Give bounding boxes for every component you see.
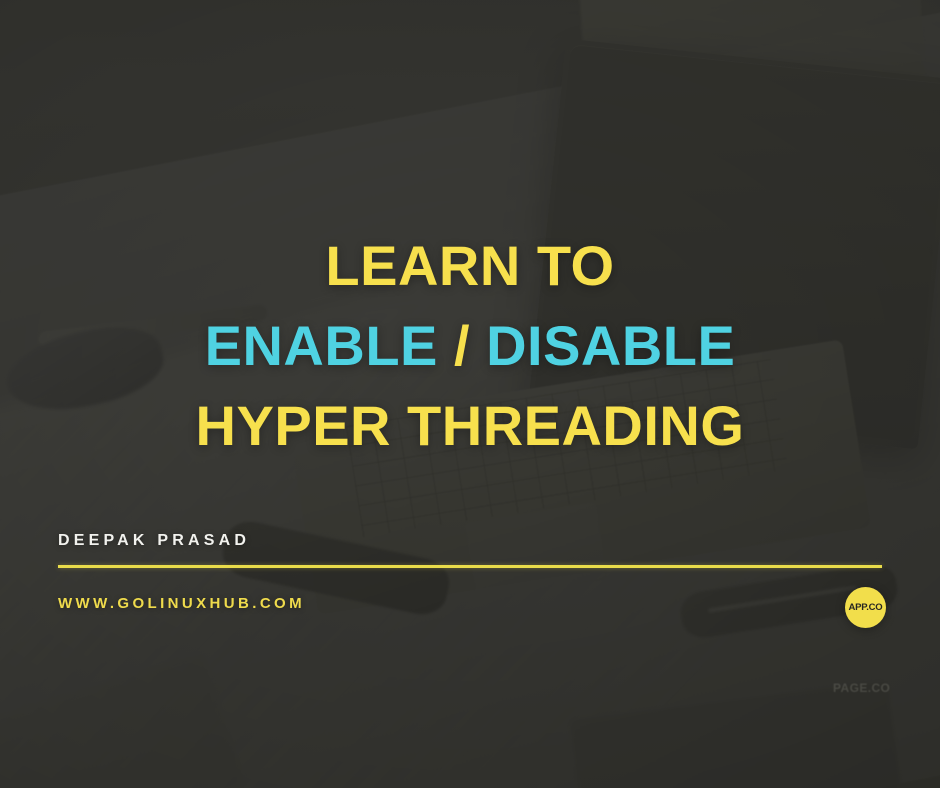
- poster-content: LEARN TO ENABLE / DISABLE HYPER THREADIN…: [0, 0, 940, 788]
- title-block: LEARN TO ENABLE / DISABLE HYPER THREADIN…: [0, 238, 940, 454]
- author-name: DEEPAK PRASAD: [58, 532, 250, 550]
- title-line-2-enable: ENABLE: [205, 314, 438, 377]
- title-line-2: ENABLE / DISABLE: [0, 318, 940, 374]
- app-co-badge: APP.CO: [845, 587, 886, 628]
- page-co-watermark: PAGE.CO: [833, 681, 890, 695]
- app-co-badge-label: APP.CO: [849, 602, 883, 613]
- title-card-poster: LEARN TO ENABLE / DISABLE HYPER THREADIN…: [0, 0, 940, 788]
- website-url: WWW.GOLINUXHUB.COM: [58, 595, 305, 612]
- title-line-3: HYPER THREADING: [0, 398, 940, 454]
- title-line-1: LEARN TO: [0, 238, 940, 294]
- title-line-2-separator: /: [454, 314, 470, 377]
- title-line-2-disable: DISABLE: [486, 314, 735, 377]
- horizontal-divider: [58, 565, 882, 568]
